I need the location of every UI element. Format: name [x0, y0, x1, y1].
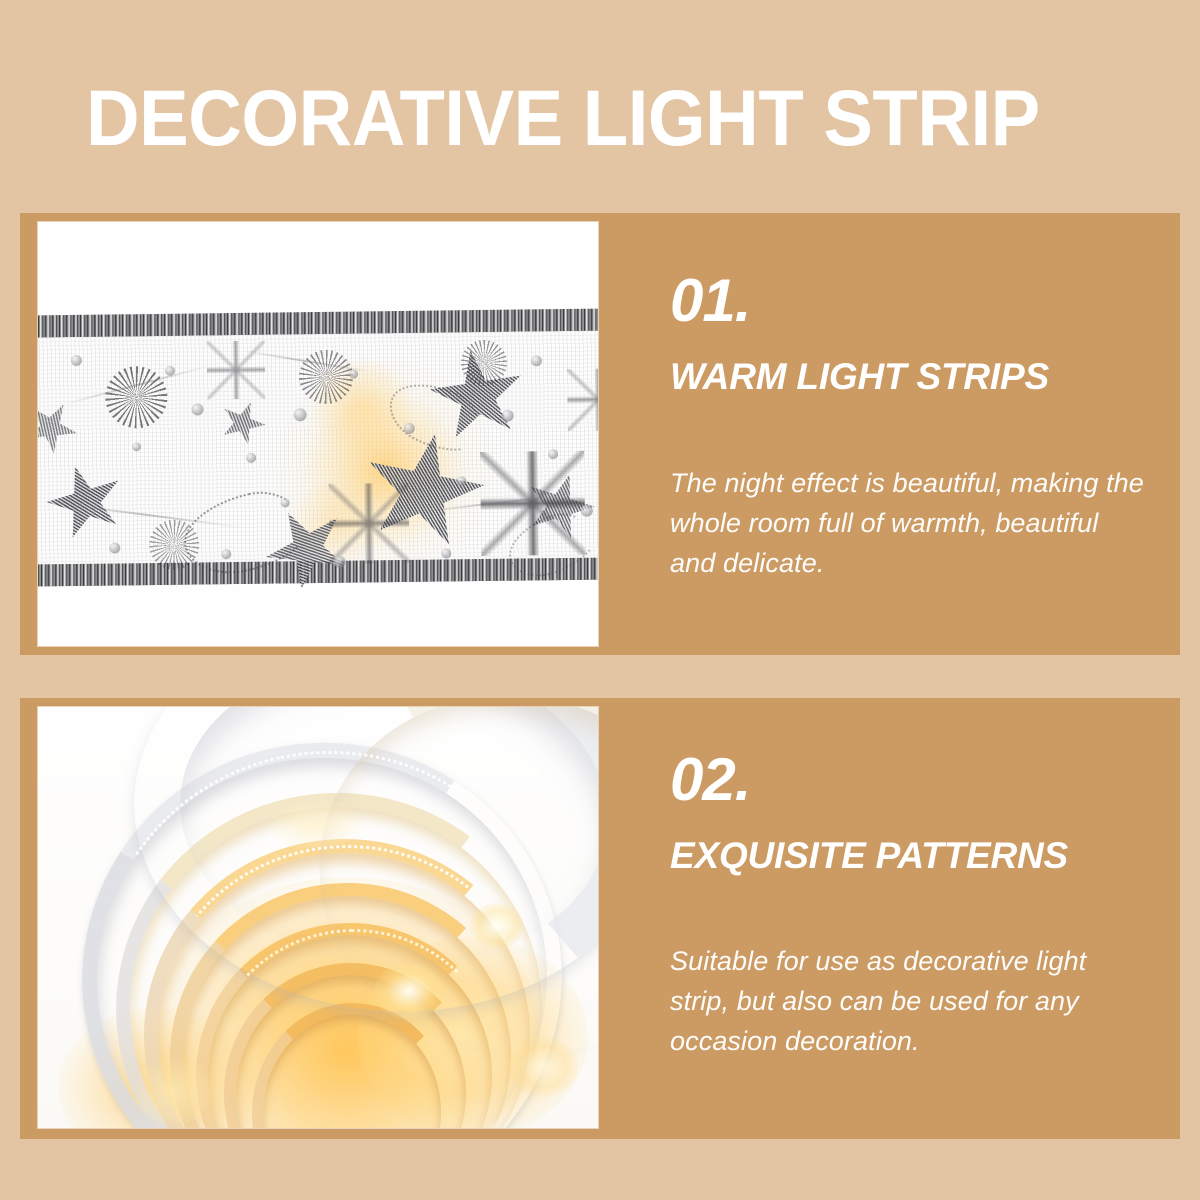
- glitter-dot: [191, 403, 203, 415]
- swirl-motif: [380, 370, 492, 463]
- glitter-dot: [165, 366, 175, 376]
- glitter-dot: [221, 549, 231, 559]
- ribbon-trim-top-icon: [38, 309, 598, 338]
- glitter-dot: [71, 355, 82, 366]
- glitter-dot: [294, 408, 307, 421]
- star-motif: [352, 422, 494, 560]
- sparkle-motif: [480, 451, 585, 556]
- star-motif: [251, 493, 363, 604]
- starburst-motif: [299, 350, 354, 405]
- streak-motif: [63, 365, 209, 405]
- feature-body-2: Suitable for use as decorative light str…: [670, 941, 1150, 1061]
- glitter-dot: [531, 355, 542, 366]
- feature-heading-1: WARM LIGHT STRIPS: [670, 350, 1140, 404]
- sparkle-motif: [328, 483, 409, 564]
- sparkle-motif: [207, 341, 266, 400]
- glitter-dot: [548, 449, 558, 459]
- step-number-1: 01.: [670, 271, 750, 331]
- photo-frame-1: [38, 222, 598, 646]
- infographic-stage: DECORATIVE LIGHT STRIP: [0, 0, 1200, 1200]
- star-motif: [38, 455, 134, 548]
- photo-frame-2: [38, 707, 598, 1128]
- starburst-motif: [461, 340, 508, 387]
- glitter-dot: [502, 410, 514, 422]
- ribbon-trim-bottom-icon: [38, 557, 598, 586]
- glitter-dot: [581, 505, 593, 517]
- glitter-dot: [441, 548, 451, 558]
- glitter-dot: [404, 423, 415, 434]
- streak-motif: [53, 502, 242, 528]
- feature-body-1: The night effect is beautiful, making th…: [670, 463, 1150, 583]
- feature-text-column-1: 01. WARM LIGHT STRIPS The night effect i…: [650, 213, 1160, 655]
- feature-panel-2: 02. EXQUISITE PATTERNS Suitable for use …: [20, 698, 1180, 1139]
- feature-panel-1: 01. WARM LIGHT STRIPS The night effect i…: [20, 213, 1180, 655]
- glitter-dot: [281, 498, 290, 507]
- streak-motif: [242, 350, 371, 373]
- glitter-dot: [456, 476, 466, 486]
- star-motif: [38, 391, 87, 463]
- step-number-2: 02.: [670, 750, 750, 810]
- streak-motif: [413, 492, 582, 514]
- star-motif: [517, 464, 598, 548]
- glitter-dot: [132, 442, 141, 451]
- product-photo-exquisite-patterns: [38, 707, 598, 1128]
- star-motif: [423, 343, 532, 448]
- sparkle-motif: [567, 368, 598, 431]
- product-photo-warm-light-strips: [38, 222, 598, 646]
- ribbon-band: [38, 309, 598, 587]
- feature-text-column-2: 02. EXQUISITE PATTERNS Suitable for use …: [650, 698, 1160, 1139]
- glitter-dot: [246, 453, 256, 463]
- feature-heading-2: EXQUISITE PATTERNS: [670, 829, 1140, 883]
- page-title: DECORATIVE LIGHT STRIP: [86, 78, 1040, 157]
- star-motif: [213, 394, 272, 452]
- glitter-dot: [109, 542, 120, 553]
- starburst-motif: [105, 366, 168, 429]
- glitter-dot: [349, 370, 358, 379]
